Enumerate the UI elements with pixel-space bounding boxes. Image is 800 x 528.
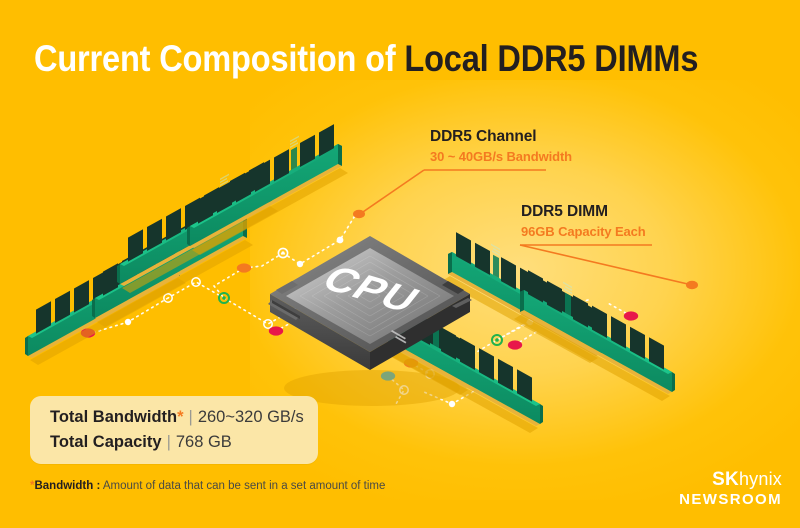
annotation-title: DDR5 Channel	[430, 128, 572, 146]
annotation-ddr5-channel: DDR5 Channel 30 ~ 40GB/s Bandwidth	[430, 128, 572, 164]
annotation-anchor-dot	[353, 210, 365, 218]
summary-row-bandwidth: Total Bandwidth*|260~320 GB/s	[50, 408, 304, 427]
summary-value: 260~320 GB/s	[198, 408, 304, 426]
logo-newsroom: NEWSROOM	[679, 492, 782, 507]
channel-dot	[237, 263, 251, 272]
summary-value: 768 GB	[176, 433, 232, 451]
logo-brand: SKhynix	[679, 470, 782, 489]
channel-dot	[624, 311, 638, 320]
annotation-subtitle: 96GB Capacity Each	[521, 224, 646, 239]
asterisk-marker: *	[177, 408, 183, 426]
annotation-ddr5-dimm: DDR5 DIMM 96GB Capacity Each	[521, 203, 646, 239]
sk-hynix-newsroom-logo: SKhynix NEWSROOM	[679, 470, 782, 507]
annotation-subtitle: 30 ~ 40GB/s Bandwidth	[430, 149, 572, 164]
title-part-dark: Local DDR5 DIMMs	[404, 38, 698, 79]
separator: |	[184, 408, 198, 426]
annotation-leader-line	[360, 170, 424, 214]
channel-dot	[508, 340, 522, 349]
annotation-anchor-dot	[686, 281, 698, 289]
title-part-white: Current Composition of	[34, 38, 396, 79]
dimm-module	[514, 270, 675, 401]
infographic-canvas: CPU Current Composition of Local DDR5 DI…	[0, 0, 800, 528]
summary-row-capacity: Total Capacity|768 GB	[50, 433, 232, 452]
page-title: Current Composition of Local DDR5 DIMMs	[34, 36, 698, 82]
annotation-leader-line	[520, 245, 692, 285]
summary-label: Total Capacity	[50, 433, 162, 451]
summary-label: Total Bandwidth	[50, 408, 177, 426]
logo-hynix: hynix	[739, 469, 782, 489]
footnote-text: Amount of data that can be sent in a set…	[103, 480, 386, 492]
annotation-title: DDR5 DIMM	[521, 203, 646, 221]
logo-sk: SK	[712, 469, 739, 490]
channel-dot	[269, 326, 283, 335]
summary-info-box: Total Bandwidth*|260~320 GB/s Total Capa…	[30, 396, 318, 464]
footnote-label: Bandwidth :	[34, 480, 100, 492]
separator: |	[162, 433, 176, 451]
footnote: *Bandwidth : Amount of data that can be …	[30, 480, 385, 492]
dimm-module	[187, 124, 348, 255]
